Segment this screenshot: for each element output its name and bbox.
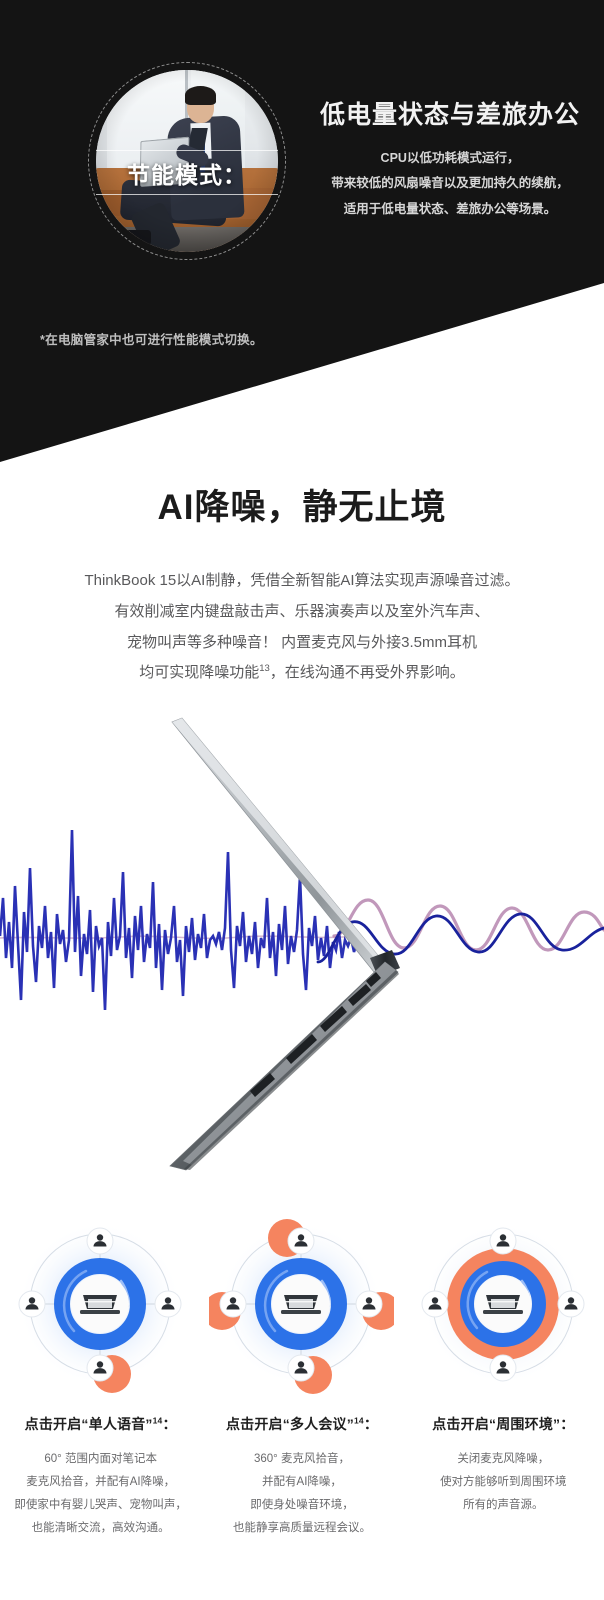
column-body-line-4: 也能清晰交流，高效沟通。 [0, 1517, 201, 1540]
footnote-marker-14: 14 [354, 1415, 364, 1425]
diagram-multi-conference[interactable] [209, 1218, 394, 1398]
hero-text-block: 低电量状态与差旅办公 CPU以低功耗模式运行， 带来较低的风扇噪音以及更加持久的… [300, 102, 600, 222]
noise-reduction-artwork [0, 700, 604, 1200]
section-body-line-3: 宠物叫声等多种噪音！ 内置麦克风与外接3.5mm耳机 [0, 628, 604, 659]
column-body-line-1: 60° 范围内面对笔记本 [0, 1448, 201, 1471]
diagram-single-voice[interactable] [8, 1218, 193, 1398]
person-icon-left [220, 1291, 246, 1317]
column-title-tail: ： [364, 1416, 378, 1432]
column-body-line-2: 使对方能够听到周围环境 [403, 1471, 604, 1494]
laptop-icon [483, 1295, 523, 1314]
laptop-icon [281, 1295, 321, 1314]
person-icon-top [87, 1228, 113, 1254]
laptop-icon [80, 1295, 120, 1314]
column-body-single-voice: 60° 范围内面对笔记本 麦克风拾音，并配有AI降噪， 即使家中有婴儿哭声、宠物… [0, 1448, 201, 1540]
hero-subtitle: CPU以低功耗模式运行， 带来较低的风扇噪音以及更加持久的续航， 适用于低电量状… [300, 146, 600, 223]
laptop-base-shadow [184, 970, 399, 1170]
person-icon-right [356, 1291, 382, 1317]
thinkbook-side-view [170, 718, 400, 1170]
person-icon-left [422, 1291, 448, 1317]
column-title-tail: ： [560, 1416, 574, 1432]
column-body-line-1: 360° 麦克风拾音， [201, 1448, 402, 1471]
column-body-line-3: 所有的声音源。 [403, 1494, 604, 1517]
section-title: AI降噪，静无止境 [0, 479, 604, 530]
column-body-line-1: 关闭麦克风降噪， [403, 1448, 604, 1471]
column-title-text: 点击开启“多人会议” [226, 1416, 354, 1432]
person-icon-top [288, 1228, 314, 1254]
column-title-single-voice[interactable]: 点击开启“单人语音”14： [0, 1414, 201, 1434]
clean-sine-wave-pink [334, 900, 604, 950]
column-body-line-3: 即使身处噪音环境， [201, 1494, 402, 1517]
section-body-line-2: 有效削减室内键盘敲击声、乐器演奏声以及室外汽车声、 [0, 597, 604, 628]
column-title-text: 点击开启“单人语音” [25, 1416, 153, 1432]
column-body-multi-conference: 360° 麦克风拾音， 并配有AI降噪， 即使身处噪音环境， 也能静享高质量远程… [201, 1448, 402, 1540]
section-body-line-1: ThinkBook 15以AI制静，凭借全新智能AI算法实现声源噪音过滤。 [0, 566, 604, 597]
column-title-tail: ： [162, 1416, 176, 1432]
column-body-line-2: 麦克风拾音，并配有AI降噪， [0, 1471, 201, 1494]
section-body-line-4-tail: ，在线沟通不再受外界影响。 [270, 664, 465, 681]
person-icon-bottom [87, 1355, 113, 1381]
photo-label-rule-bottom [96, 194, 278, 195]
person-icon-bottom [490, 1355, 516, 1381]
hero-title: 低电量状态与差旅办公 [300, 102, 600, 130]
person-icon-right [558, 1291, 584, 1317]
diagram-ambient-environment[interactable] [411, 1218, 596, 1398]
person-icon-left [19, 1291, 45, 1317]
column-title-text: 点击开启“周围环境” [432, 1416, 560, 1432]
hero-subtitle-line-2: 带来较低的风扇噪音以及更加持久的续航， [300, 171, 600, 197]
section-body: ThinkBook 15以AI制静，凭借全新智能AI算法实现声源噪音过滤。 有效… [0, 566, 604, 689]
column-title-multi-conference[interactable]: 点击开启“多人会议”14： [201, 1414, 402, 1434]
mic-mode-columns: 点击开启“单人语音”14： 60° 范围内面对笔记本 麦克风拾音，并配有AI降噪… [0, 1218, 604, 1540]
section-body-line-4: 均可实现降噪功能13，在线沟通不再受外界影响。 [0, 658, 604, 689]
mic-mode-column-single-voice[interactable]: 点击开启“单人语音”14： 60° 范围内面对笔记本 麦克风拾音，并配有AI降噪… [0, 1218, 201, 1540]
photo-label: 节能模式： [96, 156, 278, 190]
person-icon-bottom [288, 1355, 314, 1381]
person-icon-right [155, 1291, 181, 1317]
noisy-waveform [0, 830, 364, 1010]
section-body-line-4-text: 均可实现降噪功能 [139, 664, 259, 681]
column-title-ambient-environment[interactable]: 点击开启“周围环境”： [403, 1414, 604, 1434]
mic-mode-column-ambient-environment[interactable]: 点击开启“周围环境”： 关闭麦克风降噪， 使对方能够听到周围环境 所有的声音源。 [403, 1218, 604, 1540]
hero-dark-panel: 节能模式： 低电量状态与差旅办公 CPU以低功耗模式运行， 带来较低的风扇噪音以… [0, 0, 604, 462]
column-body-line-4: 也能静享高质量远程会议。 [201, 1517, 402, 1540]
hero-subtitle-line-3: 适用于低电量状态、差旅办公等场景。 [300, 197, 600, 223]
hero-footnote: *在电脑管家中也可进行性能模式切换。 [40, 329, 263, 348]
footnote-marker-14: 14 [153, 1415, 163, 1425]
column-body-line-3: 即使家中有婴儿哭声、宠物叫声， [0, 1494, 201, 1517]
column-body-line-2: 并配有AI降噪， [201, 1471, 402, 1494]
person-icon-top [490, 1228, 516, 1254]
mic-mode-column-multi-conference[interactable]: 点击开启“多人会议”14： 360° 麦克风拾音， 并配有AI降噪， 即使身处噪… [201, 1218, 402, 1540]
footnote-marker-13: 13 [259, 663, 270, 674]
column-body-ambient-environment: 关闭麦克风降噪， 使对方能够听到周围环境 所有的声音源。 [403, 1448, 604, 1517]
photo-label-rule-top [96, 150, 278, 151]
product-detail-page: 节能模式： 低电量状态与差旅办公 CPU以低功耗模式运行， 带来较低的风扇噪音以… [0, 0, 604, 1600]
hero-subtitle-line-1: CPU以低功耗模式运行， [300, 146, 600, 172]
